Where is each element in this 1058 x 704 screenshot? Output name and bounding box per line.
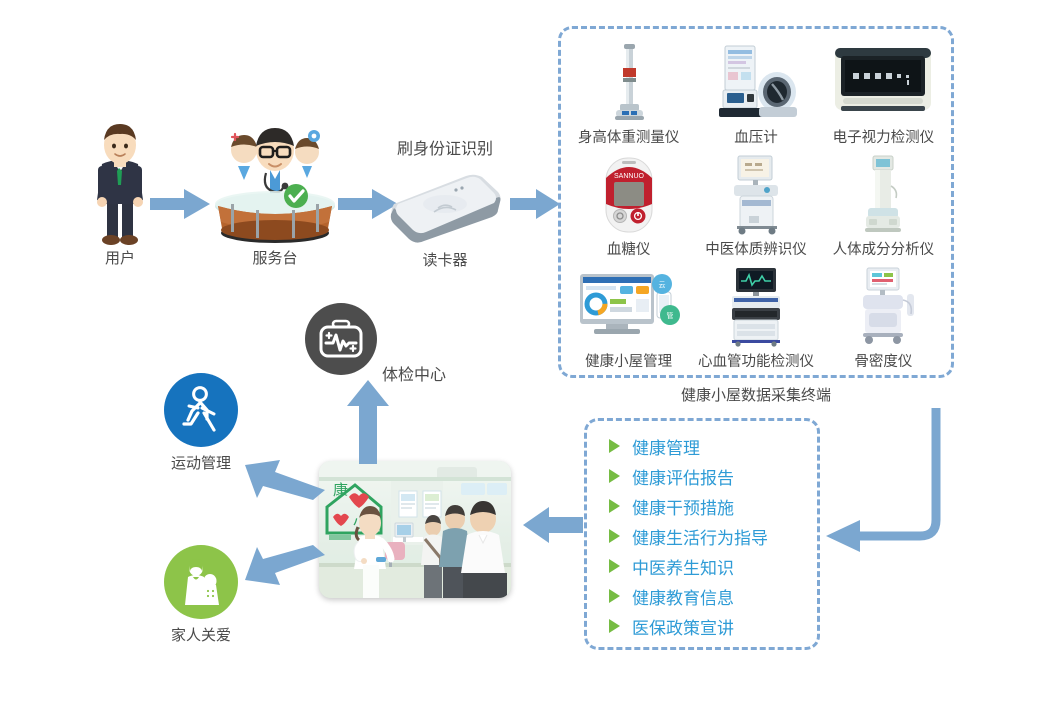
device-label: 健康小屋管理 [585,350,672,371]
service-label: 健康管理 [632,434,700,459]
service-label: 健康干预措施 [632,494,734,519]
reception-label: 服务台 [208,250,342,268]
device-item[interactable]: 血压计 [692,35,819,147]
vision-tester-icon [833,44,933,122]
bone-densitometer-icon [845,268,921,346]
triangle-bullet-icon [609,589,620,603]
triangle-bullet-icon [609,499,620,513]
device-item[interactable]: SANNUO 血糖仪 [565,147,692,259]
clinic-photo: 康 小屋 [319,461,511,598]
device-label: 血压计 [734,126,778,147]
sport-management-label: 运动管理 [146,455,256,473]
sport-management-icon-circle[interactable] [164,373,238,447]
family-care-label: 家人关爱 [146,627,256,645]
user-figure [78,118,162,248]
arrow-reader-to-devices [510,187,562,226]
device-label: 身高体重测量仪 [578,126,680,147]
device-item[interactable]: 云 管 健康小屋管理 [565,259,692,371]
device-label: 血糖仪 [607,238,651,259]
services-panel: 健康管理 健康评估报告 健康干预措施 健康生活行为指导 中医养生知识 健康教育信… [584,418,820,650]
triangle-bullet-icon [609,469,620,483]
walking-person-icon [180,386,222,434]
device-item[interactable]: 心血管功能检测仪 [692,259,819,371]
card-reader-label: 读卡器 [382,252,508,270]
service-label: 健康生活行为指导 [632,524,768,549]
service-item[interactable]: 健康干预措施 [609,491,817,521]
health-cabin-management-icon: 云 管 [576,268,682,346]
device-item[interactable]: 人体成分分析仪 [820,147,947,259]
svg-text:云: 云 [658,281,665,289]
device-item[interactable]: 身高体重测量仪 [565,35,692,147]
arrow-services-to-photo [521,505,583,550]
service-item[interactable]: 医保政策宣讲 [609,611,817,641]
triangle-bullet-icon [609,439,620,453]
arrow-photo-to-family [243,545,325,598]
arrow-devices-to-services [820,400,960,565]
user-label: 用户 [78,250,162,268]
device-label: 人体成分分析仪 [833,238,935,259]
device-label: 骨密度仪 [854,350,912,371]
device-label: 心血管功能检测仪 [698,350,814,371]
arrow-user-to-reception [150,187,212,226]
family-care-icon-circle[interactable] [164,545,238,619]
arrow-photo-to-exam-center [345,380,391,469]
service-item[interactable]: 健康教育信息 [609,581,817,611]
service-item[interactable]: 健康评估报告 [609,461,817,491]
medical-kit-icon [319,319,363,359]
device-grid: 身高体重测量仪 [561,29,951,375]
services-list: 健康管理 健康评估报告 健康干预措施 健康生活行为指导 中医养生知识 健康教育信… [587,421,817,641]
svg-text:SANNUO: SANNUO [614,173,645,180]
diagram-canvas: 用户 [0,0,1058,704]
tcm-constitution-analyzer-icon [720,156,792,234]
glucose-meter-icon: SANNUO [600,156,658,234]
triangle-bullet-icon [609,559,620,573]
family-care-icon [179,559,223,605]
device-item[interactable]: 中医体质辨识仪 [692,147,819,259]
card-reader-device [382,168,508,246]
service-label: 中医养生知识 [632,554,734,579]
body-composition-analyzer-icon [858,156,908,234]
service-label: 健康评估报告 [632,464,734,489]
device-terminal-panel: 身高体重测量仪 [558,26,954,378]
card-reader-caption: 刷身份证识别 [370,140,520,159]
device-label: 中医体质辨识仪 [705,238,807,259]
device-item[interactable]: 电子视力检测仪 [820,35,947,147]
device-label: 电子视力检测仪 [833,126,935,147]
exam-center-label: 体检中心 [382,366,446,385]
device-item[interactable]: 骨密度仪 [820,259,947,371]
service-item[interactable]: 健康管理 [609,431,817,461]
triangle-bullet-icon [609,619,620,633]
service-label: 医保政策宣讲 [632,614,734,639]
exam-center-icon-circle[interactable] [305,303,377,375]
service-item[interactable]: 中医养生知识 [609,551,817,581]
cardiovascular-tester-icon [720,268,792,346]
service-label: 健康教育信息 [632,584,734,609]
triangle-bullet-icon [609,529,620,543]
blood-pressure-monitor-icon [715,44,797,122]
height-weight-scale-icon [606,44,652,122]
reception-desk [208,126,342,248]
service-item[interactable]: 健康生活行为指导 [609,521,817,551]
svg-text:管: 管 [666,311,673,320]
